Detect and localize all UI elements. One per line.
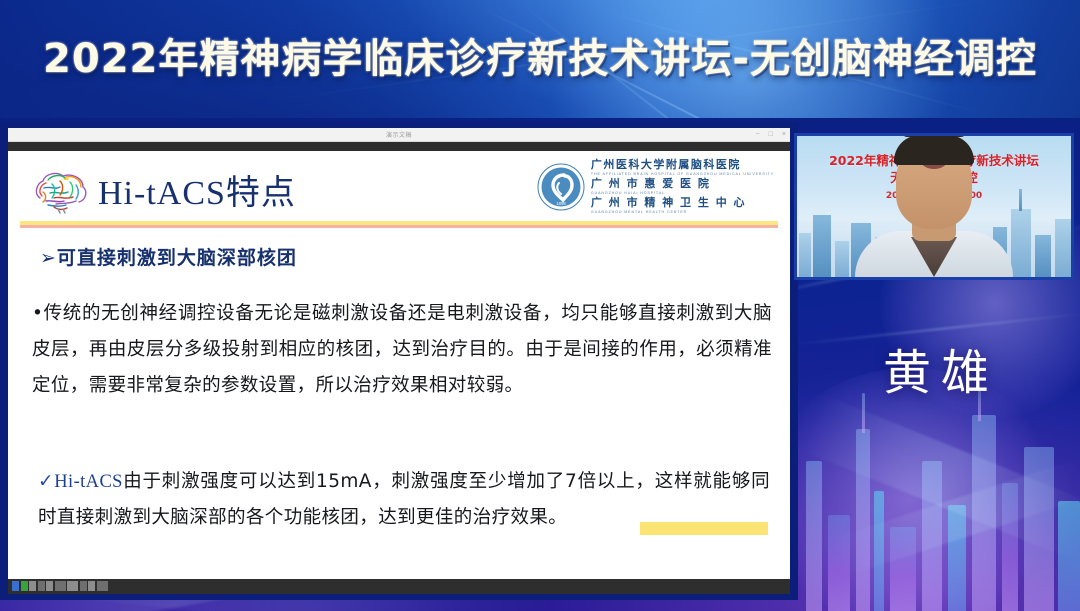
window-controls: − □ × <box>756 130 786 139</box>
taskbar-icon[interactable] <box>80 581 87 591</box>
close-icon[interactable]: × <box>782 130 786 139</box>
taskbar-icons <box>12 581 108 591</box>
logo-line-3-cn: 广 州 市 精 神 卫 生 中 心 <box>591 197 774 209</box>
taskbar-icon[interactable] <box>29 581 36 591</box>
taskbar-icon[interactable] <box>12 581 19 591</box>
window-title: 演示文稿 <box>386 130 412 139</box>
taskbar-icon[interactable] <box>55 581 66 591</box>
brain-icon <box>30 168 92 216</box>
minimize-icon[interactable]: − <box>756 130 760 139</box>
skyline-building <box>806 461 822 611</box>
slide-paragraph-1: •传统的无创神经调控设备无论是磁刺激设备还是电刺激设备，均只能够直接刺激到大脑皮… <box>32 296 772 404</box>
presenter-name-label: 黄雄 <box>836 333 1046 403</box>
window-toolbar-strip <box>8 142 790 151</box>
video-tile[interactable]: 2022年精神病学临床诊疗新技术讲坛 无创脑神经调控 2022年6月18日 9:… <box>794 133 1074 280</box>
hi-tacs-term: Hi-tACS <box>54 472 123 492</box>
taskbar-icon[interactable] <box>38 581 45 591</box>
logo-line-3-en: GUANGZHOU MENTAL HEALTH CENTER <box>591 210 774 215</box>
svg-text:1898: 1898 <box>556 201 566 206</box>
hospital-logo-icon: 1898 <box>537 163 585 211</box>
slide-paragraph-2-rest: 由于刺激强度可以达到15mA，刺激强度至少增加了7倍以上，这样就能够同时直接刺激… <box>38 471 770 528</box>
hospital-logo: 1898 广州医科大学附属脑科医院 THE AFFILIATED BRAIN H… <box>537 159 774 215</box>
logo-line-1-cn: 广州医科大学附属脑科医院 <box>591 159 774 171</box>
taskbar-icon[interactable] <box>21 581 28 591</box>
taskbar-icon[interactable] <box>46 581 53 591</box>
logo-line-2-cn: 广 州 市 惠 爱 医 院 <box>591 178 774 190</box>
conference-header-banner: 2022年精神病学临床诊疗新技术讲坛-无创脑神经调控 <box>0 0 1080 118</box>
screen: 2022年精神病学临床诊疗新技术讲坛-无创脑神经调控 黄雄 <box>0 0 1080 611</box>
presenter-video-figure <box>854 169 1014 277</box>
slide-canvas: Hi-tACS特点 1898 广州医科大学附属脑科医院 THE AFFILIAT… <box>8 151 790 570</box>
taskbar-icon[interactable] <box>97 581 108 591</box>
window-taskbar[interactable] <box>8 579 790 594</box>
slide-title: Hi-tACS特点 <box>98 165 296 214</box>
slide-bullet-heading: ➢可直接刺激到大脑深部核团 <box>40 243 297 270</box>
window-titlebar[interactable]: 演示文稿 − □ × <box>8 128 790 142</box>
text-highlight-marker <box>640 522 768 535</box>
title-rule-pink <box>20 225 778 228</box>
checkmark-icon: ✓ <box>38 471 54 492</box>
taskbar-icon[interactable] <box>67 581 78 591</box>
maximize-icon[interactable]: □ <box>769 130 773 139</box>
page-title: 2022年精神病学临床诊疗新技术讲坛-无创脑神经调控 <box>0 26 1080 84</box>
taskbar-icon[interactable] <box>88 581 95 591</box>
